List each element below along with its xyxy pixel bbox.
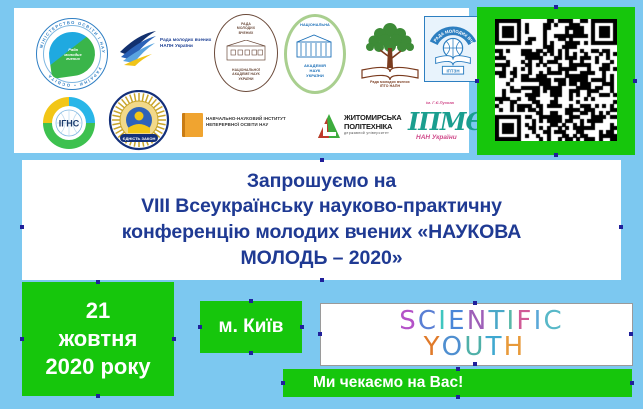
selection-handle[interactable] bbox=[475, 79, 479, 83]
scientific-youth-line-2: YOUTH bbox=[424, 335, 526, 360]
selection-handle[interactable] bbox=[554, 153, 558, 157]
slide-canvas: Радамолодихвчених МІНІСТЕРСТВО ОСВІТИ І … bbox=[0, 0, 643, 409]
logo-acronym: ІПМЄ bbox=[408, 107, 484, 136]
svg-text:МІНІСТЕРСТВО ОСВІТИ І НАУКИ: МІНІСТЕРСТВО ОСВІТИ І НАУКИ bbox=[36, 18, 106, 54]
svg-text:ЄДНІСТЬ ЗАКОН: ЄДНІСТЬ ЗАКОН bbox=[123, 136, 156, 141]
logo-napn-ukrainy: РАДАМОЛОДИХВЧЕНИХ НАЦІОНАЛЬНОЇАКАДЕМІЇ Н… bbox=[214, 14, 278, 92]
sy-letter: I bbox=[507, 309, 517, 334]
city-box[interactable]: м. Київ bbox=[200, 301, 302, 353]
sy-letter: S bbox=[399, 309, 418, 334]
logo-top-label: НАЦІОНАЛЬНА bbox=[290, 23, 340, 28]
logo-rada-molodyh-vchenyh-mon: Радамолодихвчених МІНІСТЕРСТВО ОСВІТИ І … bbox=[36, 18, 108, 90]
city-label: м. Київ bbox=[219, 316, 284, 338]
selection-handle[interactable] bbox=[318, 332, 322, 336]
selection-handle[interactable] bbox=[619, 225, 623, 229]
sy-letter: O bbox=[442, 335, 465, 360]
building-icon bbox=[295, 34, 333, 60]
scientific-youth-logo[interactable]: SCIENTIFIC YOUTH bbox=[320, 303, 633, 366]
selection-handle[interactable] bbox=[633, 79, 637, 83]
selection-handle[interactable] bbox=[96, 394, 100, 398]
sy-letter: I bbox=[534, 309, 544, 334]
selection-handle[interactable] bbox=[456, 395, 460, 399]
headline-line-4: МОЛОДЬ – 2020» bbox=[241, 246, 403, 272]
logo-bottom-label: НАН України bbox=[416, 134, 457, 141]
logo-rada-molodyh-vchenyh-iptzn: РАДА МОЛОДИХ ВЧЕНИХ ІПТЗН bbox=[424, 16, 482, 82]
logo-bottom-label: АКАДЕМІЯНАУКУКРАЇНИ bbox=[289, 63, 341, 78]
scientific-youth-line-1: SCIENTIFIC bbox=[399, 309, 564, 334]
logo-bottom-label: НАЦІОНАЛЬНОЇАКАДЕМІЇ НАУКУКРАЇНИ bbox=[219, 68, 273, 81]
building-icon bbox=[226, 40, 266, 62]
logo-zhytomyrska-politehnika: ЖИТОМИРСЬКА ПОЛІТЕХНІКА державний універ… bbox=[314, 108, 404, 146]
globe-book-icon: РАДА МОЛОДИХ ВЧЕНИХ ІПТЗН bbox=[426, 18, 480, 80]
book-icon bbox=[182, 113, 203, 137]
qr-code-container[interactable] bbox=[477, 7, 635, 155]
headline-line-3: конференцію молодих вчених «НАУКОВА bbox=[122, 220, 521, 246]
sy-letter: T bbox=[488, 309, 506, 334]
circular-text-icon: МІНІСТЕРСТВО ОСВІТИ І НАУКИ УКРАЇНИ • ОС… bbox=[36, 18, 108, 90]
date-day: 21 bbox=[45, 297, 150, 325]
headline-text: Запрошуємо на VIII Всеукраїнську науково… bbox=[22, 160, 621, 280]
sy-letter: Y bbox=[424, 335, 442, 360]
headline-line-1: Запрошуємо на bbox=[247, 169, 396, 195]
logo-top-label: РАДАМОЛОДИХВЧЕНИХ bbox=[222, 22, 270, 35]
selection-handle[interactable] bbox=[96, 280, 100, 284]
call-to-action-label: Ми чекаємо на Вас! bbox=[313, 374, 463, 392]
fan-icon bbox=[118, 30, 158, 68]
sy-letter: T bbox=[486, 335, 504, 360]
svg-text:ІПТЗН: ІПТЗН bbox=[446, 68, 459, 73]
selection-handle[interactable] bbox=[554, 5, 558, 9]
date-text: 21 жовтня 2020 року bbox=[45, 297, 150, 381]
selection-handle[interactable] bbox=[320, 278, 324, 282]
sy-letter: C bbox=[418, 309, 438, 334]
selection-handle[interactable] bbox=[20, 225, 24, 229]
logo-top-label: ім. Г.Є.Пухова bbox=[426, 100, 454, 105]
igns-icon: ІГНС bbox=[38, 94, 100, 152]
selection-handle[interactable] bbox=[249, 299, 253, 303]
svg-text:ІГНС: ІГНС bbox=[59, 119, 80, 129]
sy-letter: I bbox=[438, 309, 448, 334]
selection-handle[interactable] bbox=[249, 351, 253, 355]
selection-handle[interactable] bbox=[20, 337, 24, 341]
logo-label: НАВЧАЛЬНО-НАУКОВИЙ ІНСТИТУТНЕПЕРЕРВНОЇ О… bbox=[206, 116, 310, 127]
sy-letter: F bbox=[516, 309, 533, 334]
headline-panel[interactable]: Запрошуємо на VIII Всеукраїнську науково… bbox=[22, 160, 621, 280]
logo-rada-molodyh-vchenyh-dndi-mvs: ЄДНІСТЬ ЗАКОН bbox=[106, 90, 172, 154]
logo-label: ЖИТОМИРСЬКА ПОЛІТЕХНІКА державний універ… bbox=[344, 113, 402, 135]
date-month: жовтня bbox=[45, 325, 150, 353]
selection-handle[interactable] bbox=[172, 337, 176, 341]
date-box[interactable]: 21 жовтня 2020 року bbox=[22, 282, 174, 396]
selection-handle[interactable] bbox=[473, 362, 477, 366]
logo-nnipo-nau: НАВЧАЛЬНО-НАУКОВИЙ ІНСТИТУТНЕПЕРЕРВНОЇ О… bbox=[182, 108, 310, 146]
svg-text:УКРАЇНИ • ОСВІТА: УКРАЇНИ • ОСВІТА bbox=[46, 66, 103, 88]
sunburst-emblem-icon: ЄДНІСТЬ ЗАКОН bbox=[106, 90, 172, 154]
logo-label: Рада молодих вченихІПТО НАПН bbox=[354, 80, 426, 89]
call-to-action-box[interactable]: Ми чекаємо на Вас! bbox=[283, 369, 632, 397]
scientific-youth-inner: SCIENTIFIC YOUTH bbox=[321, 304, 632, 365]
sy-letter: H bbox=[504, 335, 526, 360]
sy-letter: C bbox=[543, 309, 563, 334]
date-year: 2020 року bbox=[45, 353, 150, 381]
selection-handle[interactable] bbox=[456, 367, 460, 371]
sy-letter: N bbox=[467, 309, 489, 334]
logo-igns: ІГНС bbox=[38, 94, 100, 152]
selection-handle[interactable] bbox=[281, 381, 285, 385]
qr-code[interactable] bbox=[495, 19, 617, 141]
sy-letter: U bbox=[464, 335, 485, 360]
selection-handle[interactable] bbox=[300, 325, 304, 329]
logo-rada-molodyh-vchenyh-ipto: Рада молодих вченихІПТО НАПН bbox=[354, 16, 426, 92]
partner-logos-banner[interactable]: Радамолодихвчених МІНІСТЕРСТВО ОСВІТИ І … bbox=[14, 8, 469, 153]
zhytomyr-mark-icon bbox=[316, 112, 342, 140]
selection-handle[interactable] bbox=[198, 325, 202, 329]
selection-handle[interactable] bbox=[320, 158, 324, 162]
logo-ipme: ім. Г.Є.Пухова ІПМЄ НАН України bbox=[406, 100, 478, 150]
selection-handle[interactable] bbox=[473, 301, 477, 305]
selection-handle[interactable] bbox=[629, 332, 633, 336]
headline-line-2: VIII Всеукраїнську науково-практичну bbox=[141, 194, 502, 220]
sy-letter: E bbox=[448, 309, 467, 334]
logo-nan-ukrainy: НАЦІОНАЛЬНА АКАДЕМІЯНАУКУКРАЇНИ bbox=[284, 14, 346, 94]
selection-handle[interactable] bbox=[630, 381, 634, 385]
